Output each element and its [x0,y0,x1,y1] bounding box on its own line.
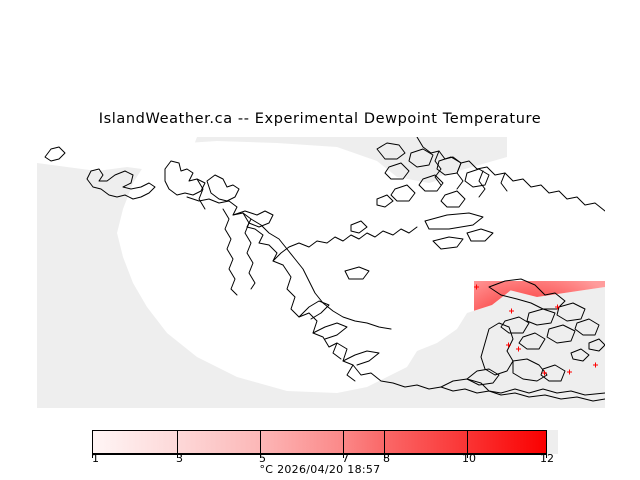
northwest-islands-land [37,137,197,171]
colorbar-caption: °C 2026/04/20 18:57 [0,463,640,476]
colorbar-axis-line [92,454,547,455]
weather-map-page: IslandWeather.ca -- Experimental Dewpoin… [0,0,640,480]
colorbar-tick-10 [467,430,468,454]
map-plot-area[interactable] [37,137,605,408]
colorbar-gradient [92,430,547,454]
colorbar-tick-8 [384,430,385,454]
colorbar-tick-3 [177,430,178,454]
map-svg [37,137,605,408]
colorbar-tick-7 [343,430,344,454]
land-masses [37,137,605,393]
page-title: IslandWeather.ca -- Experimental Dewpoin… [0,111,640,127]
colorbar[interactable] [92,430,558,454]
colorbar-tick-5 [260,430,261,454]
